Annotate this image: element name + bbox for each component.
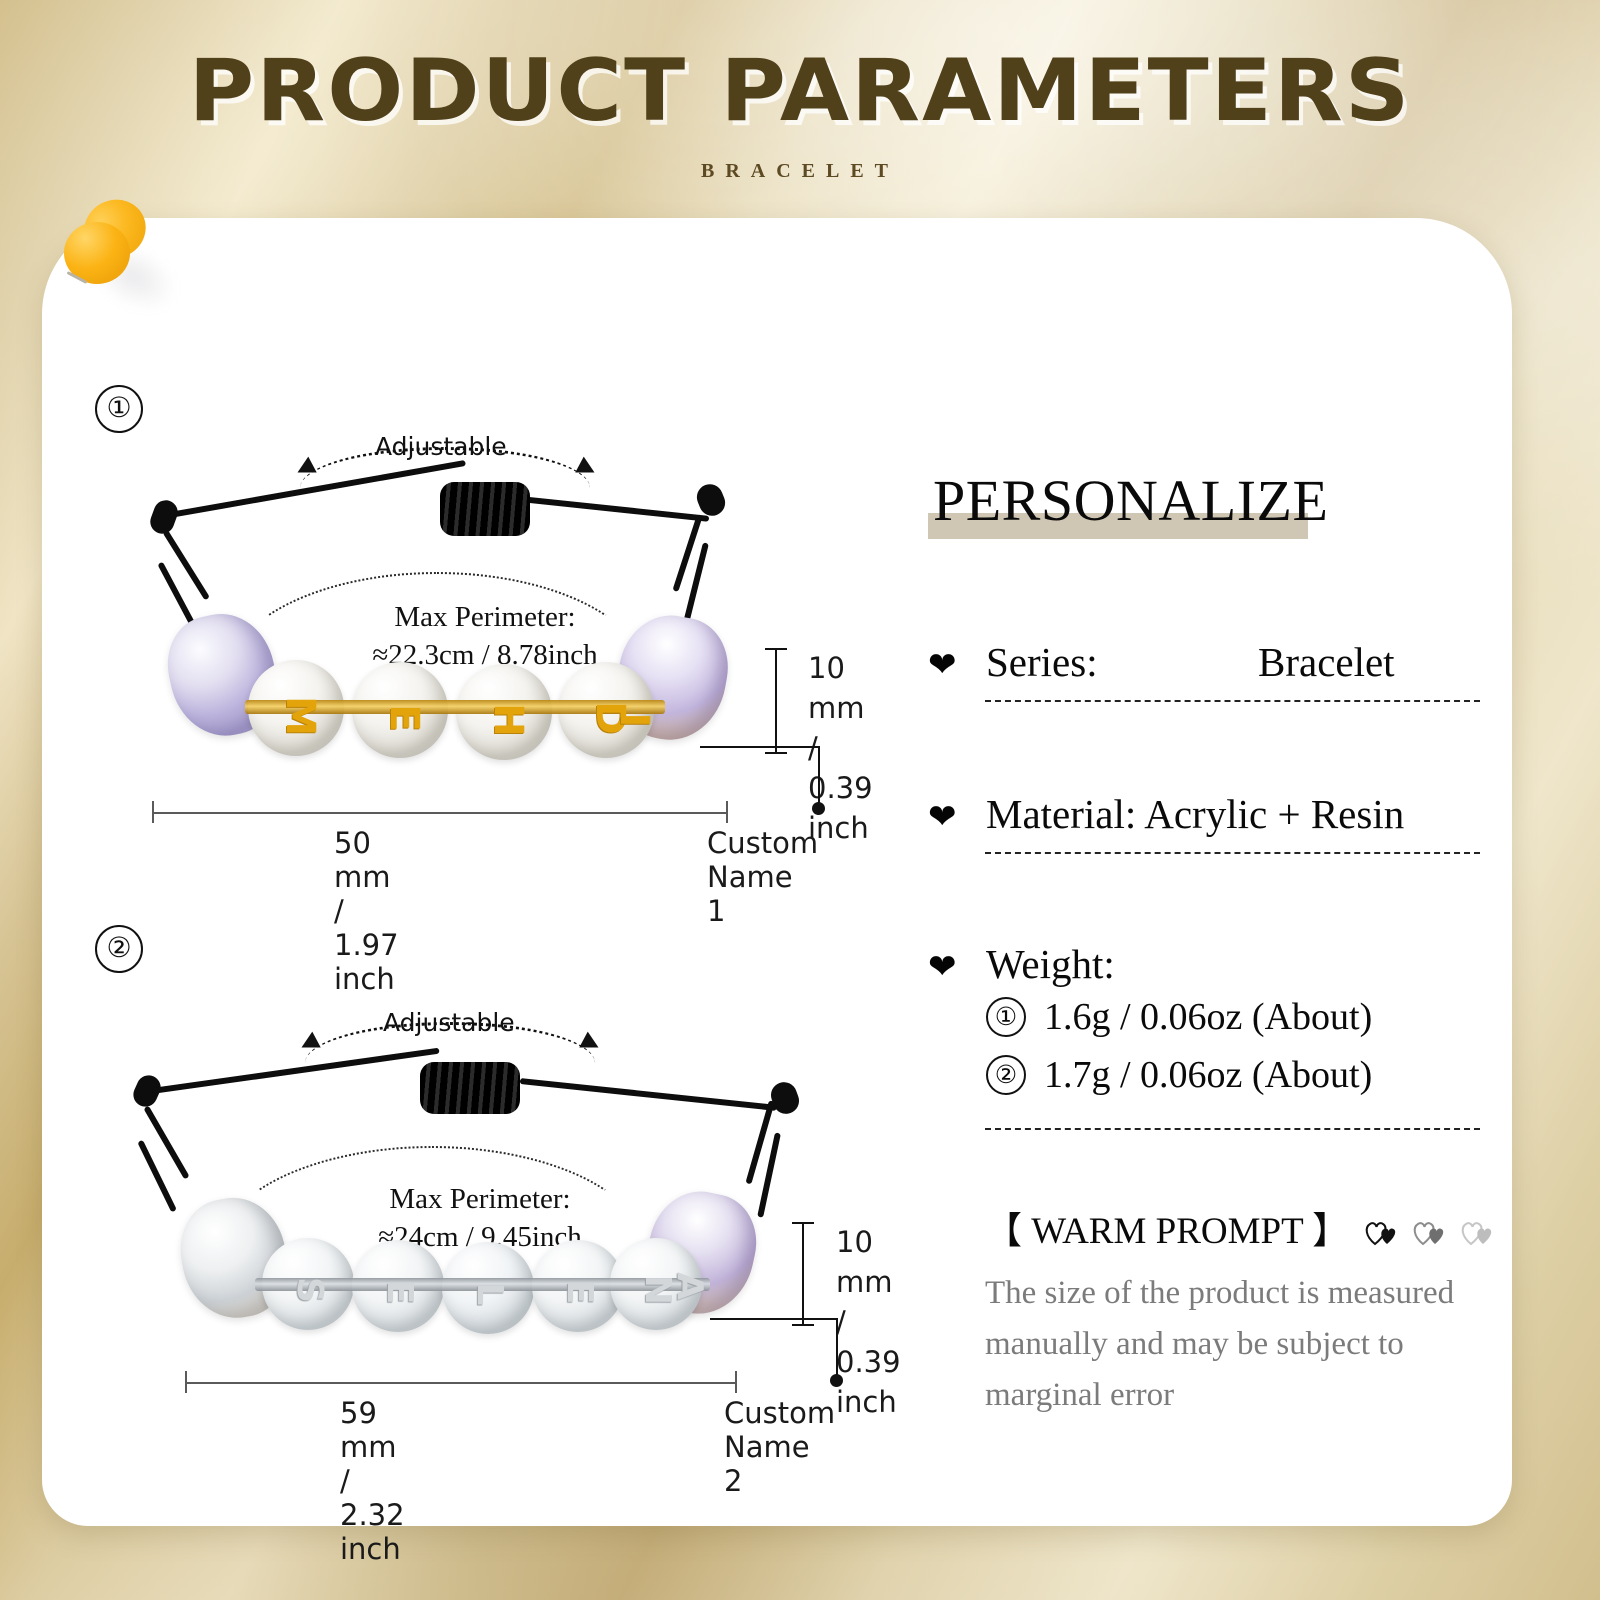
callout-label-1: Custom Name 1 (707, 826, 818, 928)
bead-letter-5-1: I (604, 690, 664, 750)
width-label-1: 50 mm / 1.97 inch (334, 826, 399, 996)
personalize-heading-wrap: PERSONALIZE (933, 472, 1328, 530)
bead-letter-1-2: S (264, 1244, 356, 1336)
divider-series (985, 700, 1480, 702)
page-title: PRODUCT PARAMETERS (0, 48, 1600, 134)
series-value: Bracelet (1258, 638, 1395, 686)
bead-letter-2-2: E (354, 1246, 446, 1338)
double-heart-icon-light (1459, 1213, 1493, 1241)
weight-index-1: ① (986, 997, 1026, 1037)
width-dim-cap-left-2 (185, 1371, 187, 1393)
height-line2-2: 0.39 inch (836, 1342, 901, 1422)
height-caliper-line-2 (802, 1222, 804, 1326)
perimeter-line1-2: Max Perimeter: (300, 1180, 660, 1218)
callout-label-2: Custom Name 2 (724, 1396, 835, 1498)
bead-letter-6-2: A (660, 1256, 720, 1316)
heart-icon-series: ❤ (928, 648, 957, 682)
callout-leader-h-2 (710, 1318, 838, 1320)
bead-letter-3-2: L (444, 1248, 536, 1340)
pushpin-icon (62, 196, 172, 316)
perimeter-line1-1: Max Perimeter: (310, 598, 660, 636)
heart-icon-material: ❤ (928, 800, 957, 834)
callout-dot-2 (830, 1374, 843, 1387)
width-label-2: 59 mm / 2.32 inch (340, 1396, 405, 1566)
height-caliper-cap-top-1 (765, 648, 787, 650)
callout-dot-1 (812, 802, 825, 815)
width-dim-line-2 (185, 1382, 737, 1384)
width-dim-line-1 (152, 812, 728, 814)
weight-index-2: ② (986, 1055, 1026, 1095)
height-caliper-cap-bottom-2 (792, 1324, 814, 1326)
page-subtitle: BRACELET (0, 160, 1600, 183)
divider-weight (985, 1128, 1480, 1130)
warm-prompt-title-row: 【 WARM PROMPT 】 (985, 1200, 1455, 1254)
figure-index-1: ① (95, 385, 143, 433)
height-caliper-line-1 (775, 648, 777, 754)
weight-row-2: ② 1.7g / 0.06oz (About) (986, 1053, 1372, 1097)
personalize-heading: PERSONALIZE (933, 472, 1328, 530)
width-dim-cap-left-1 (152, 801, 154, 823)
warm-prompt-body: The size of the product is measured manu… (985, 1268, 1455, 1421)
slider-knot-2 (420, 1062, 520, 1114)
weight-label: Weight: (986, 940, 1115, 988)
width-dim-cap-right-1 (726, 801, 728, 823)
divider-material (985, 852, 1480, 854)
warm-prompt-title: 【 WARM PROMPT 】 (985, 1200, 1349, 1254)
slider-knot-1 (440, 482, 530, 536)
bead-letter-1-1: M (252, 668, 348, 764)
double-heart-icon-mid (1411, 1213, 1445, 1241)
height-caliper-cap-bottom-1 (765, 752, 787, 754)
weight-row-1: ① 1.6g / 0.06oz (About) (986, 995, 1372, 1039)
material-label: Material: Acrylic + Resin (986, 790, 1404, 838)
series-label: Series: (986, 638, 1098, 686)
height-caliper-cap-top-2 (792, 1222, 814, 1224)
figure-index-2: ② (95, 925, 143, 973)
weight-value-1: 1.6g / 0.06oz (About) (1044, 995, 1372, 1039)
bead-letter-3-1: H (460, 672, 556, 768)
width-dim-cap-right-2 (735, 1371, 737, 1393)
height-label-2: 10 mm / 0.39 inch (836, 1222, 901, 1422)
height-line1-2: 10 mm / (836, 1222, 901, 1342)
page-header: PRODUCT PARAMETERS BRACELET (0, 48, 1600, 183)
bead-letter-2-1: E (356, 670, 452, 766)
heart-icon-weight: ❤ (928, 950, 957, 984)
weight-value-2: 1.7g / 0.06oz (About) (1044, 1053, 1372, 1097)
callout-leader-v-1 (818, 746, 820, 808)
double-heart-icon-dark (1363, 1213, 1397, 1241)
callout-leader-v-2 (836, 1318, 838, 1380)
callout-leader-h-1 (700, 746, 820, 748)
warm-prompt-block: 【 WARM PROMPT 】 The size of the product … (985, 1200, 1455, 1421)
